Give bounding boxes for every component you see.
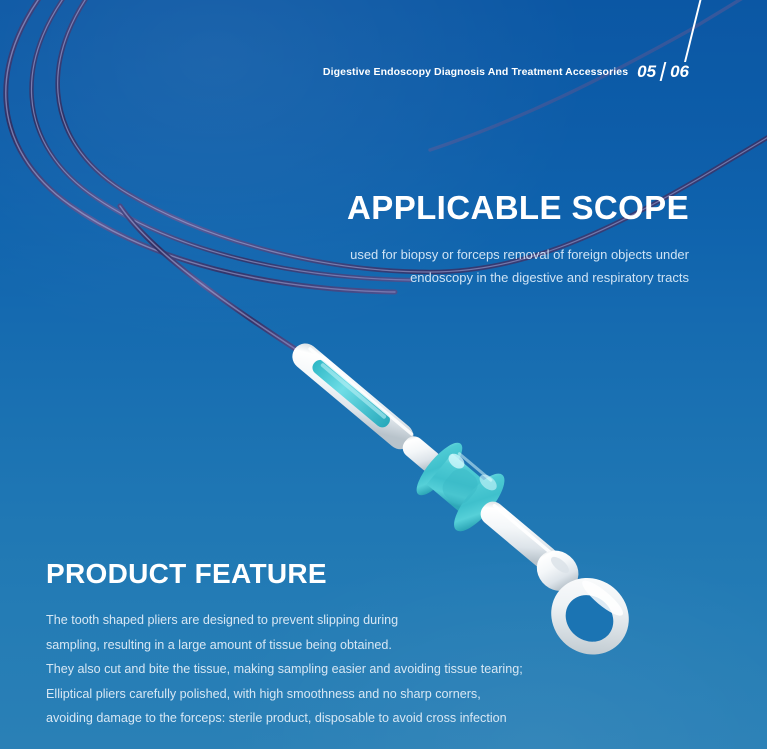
page-number-total: 06 — [670, 63, 689, 80]
product-feature-title: PRODUCT FEATURE — [46, 558, 566, 590]
header-diagonal-rule — [684, 0, 701, 62]
page-number-separator-icon — [660, 62, 667, 81]
product-feature-line: The tooth shaped pliers are designed to … — [46, 608, 566, 633]
applicable-scope-line-2: endoscopy in the digestive and respirato… — [410, 270, 689, 285]
product-feature-line: sampling, resulting in a large amount of… — [46, 633, 566, 658]
applicable-scope-line-1: used for biopsy or forceps removal of fo… — [350, 247, 689, 262]
applicable-scope-section: APPLICABLE SCOPE used for biopsy or forc… — [259, 190, 689, 290]
product-brochure-page: Digestive Endoscopy Diagnosis And Treatm… — [0, 0, 767, 749]
applicable-scope-description: used for biopsy or forceps removal of fo… — [259, 244, 689, 290]
applicable-scope-title: APPLICABLE SCOPE — [259, 190, 689, 226]
product-feature-section: PRODUCT FEATURE The tooth shaped pliers … — [46, 558, 566, 731]
product-feature-line: avoiding damage to the forceps: sterile … — [46, 706, 566, 731]
page-number-current: 05 — [637, 63, 656, 80]
header-title: Digestive Endoscopy Diagnosis And Treatm… — [323, 66, 628, 78]
product-feature-line: Elliptical pliers carefully polished, wi… — [46, 682, 566, 707]
product-feature-line: They also cut and bite the tissue, makin… — [46, 657, 566, 682]
page-number: 05 06 — [637, 62, 689, 81]
page-header: Digestive Endoscopy Diagnosis And Treatm… — [323, 62, 689, 81]
